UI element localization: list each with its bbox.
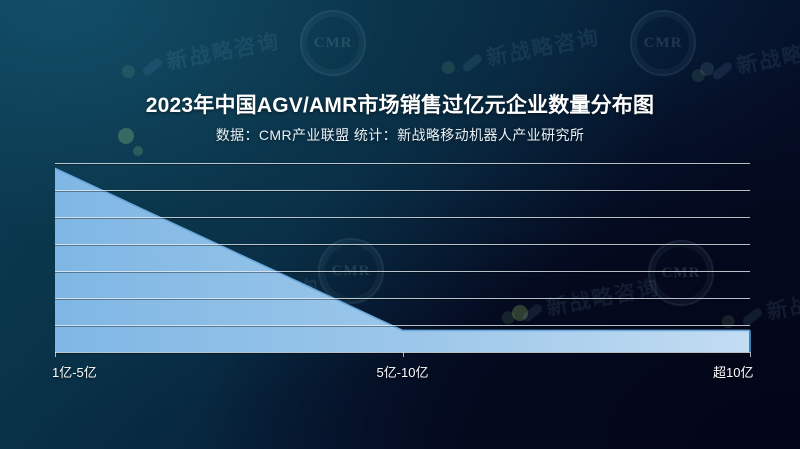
chart-title: 2023年中国AGV/AMR市场销售过亿元企业数量分布图 [0, 89, 800, 119]
decorative-blob [133, 146, 143, 156]
x-axis-tick-label: 1亿-5亿 [52, 362, 97, 381]
x-axis-tick-mark [403, 352, 404, 357]
watermark-brand: 新战略咨询 [119, 25, 283, 85]
gridline [55, 271, 750, 272]
gridline [55, 190, 750, 191]
chart-subtitle: 数据：CMR产业联盟 统计：新战略移动机器人产业研究所 [0, 125, 800, 145]
gridline [55, 217, 750, 218]
watermark-brand: 新战略咨询 [439, 21, 603, 81]
x-axis-tick-mark [55, 352, 56, 357]
x-axis-tick-label: 5亿-10亿 [377, 362, 429, 381]
watermark-seal: CMR [300, 10, 366, 76]
gridline [55, 244, 750, 245]
area-series [55, 163, 750, 352]
gridline [55, 325, 750, 326]
x-axis-tick-label: 超10亿 [713, 362, 753, 381]
gridline [55, 163, 750, 164]
watermark-brand: 新战略咨询 [689, 29, 800, 89]
plot-area: 05101520253035 [55, 163, 750, 352]
gridline [55, 298, 750, 299]
chart-canvas: 新战略咨询 新战略咨询 新战略咨询 新战略咨询 新战略咨询 新战略咨询 CMR … [0, 0, 800, 449]
watermark-seal: CMR [630, 10, 696, 76]
x-axis-tick-mark [750, 352, 751, 357]
decorative-blob [700, 62, 714, 76]
